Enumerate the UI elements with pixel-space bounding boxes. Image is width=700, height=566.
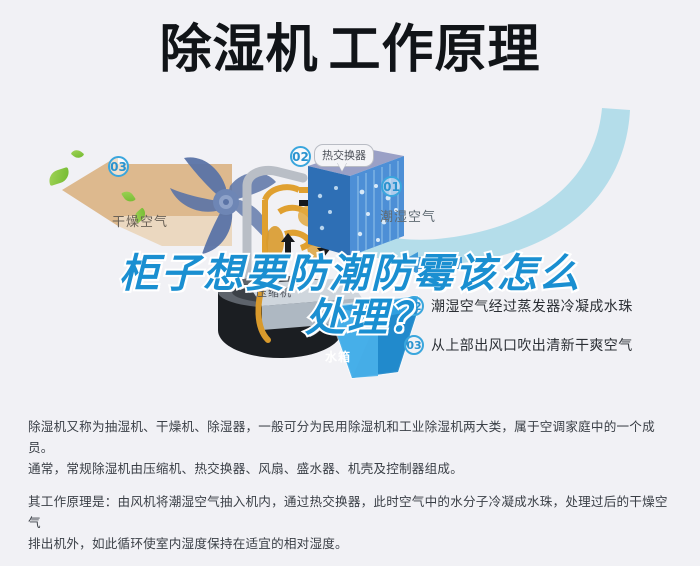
compressor-label: 压缩机	[256, 284, 292, 300]
body-paragraph-1-line-1: 除湿机又称为抽湿机、干燥机、除湿器，一般可分为民用除湿机和工业除湿机两大类，属于…	[28, 416, 676, 458]
dry-air-label: 干燥空气	[112, 211, 168, 230]
legend-item: 02 潮湿空气经过蒸发器冷凝成水珠	[404, 296, 694, 316]
page-title-part2: 工作原理	[329, 24, 541, 76]
diagram-badge-01: 01	[381, 176, 402, 197]
legend-list: 02 潮湿空气经过蒸发器冷凝成水珠 03 从上部出风口吹出清新干爽空气	[404, 296, 694, 374]
paragraph-spacer	[28, 479, 676, 491]
page-title: 除湿机工作原理	[0, 24, 700, 76]
bubble-tail-icon	[337, 162, 347, 171]
infographic-page: 除湿机工作原理	[0, 0, 700, 566]
humid-air-label: 潮湿空气	[380, 206, 436, 225]
legend-text-03: 从上部出风口吹出清新干爽空气	[431, 335, 633, 355]
body-copy: 除湿机又称为抽湿机、干燥机、除湿器，一般可分为民用除湿机和工业除湿机两大类，属于…	[28, 416, 676, 554]
water-tank-assembly	[212, 276, 422, 396]
body-paragraph-2-line-2: 排出机外，如此循环使室内湿度保持在适宜的相对湿度。	[28, 533, 676, 554]
page-title-part1: 除湿机	[159, 24, 318, 76]
diagram-badge-02: 02	[290, 146, 311, 167]
diagram-badge-03: 03	[108, 156, 129, 177]
water-tank-label: 水箱	[325, 348, 351, 365]
legend-item: 03 从上部出风口吹出清新干爽空气	[404, 335, 694, 355]
legend-badge-02: 02	[404, 296, 424, 316]
legend-badge-03: 03	[404, 335, 424, 355]
body-paragraph-1-line-2: 通常，常规除湿机由压缩机、热交换器、风扇、盛水器、机壳及控制器组成。	[28, 458, 676, 479]
air-intake-arrow-icon	[398, 252, 462, 274]
body-paragraph-2-line-1: 其工作原理是：由风机将潮湿空气抽入机内，通过热交换器，此时空气中的水分子冷凝成水…	[28, 491, 676, 533]
legend-text-02: 潮湿空气经过蒸发器冷凝成水珠	[431, 296, 633, 316]
